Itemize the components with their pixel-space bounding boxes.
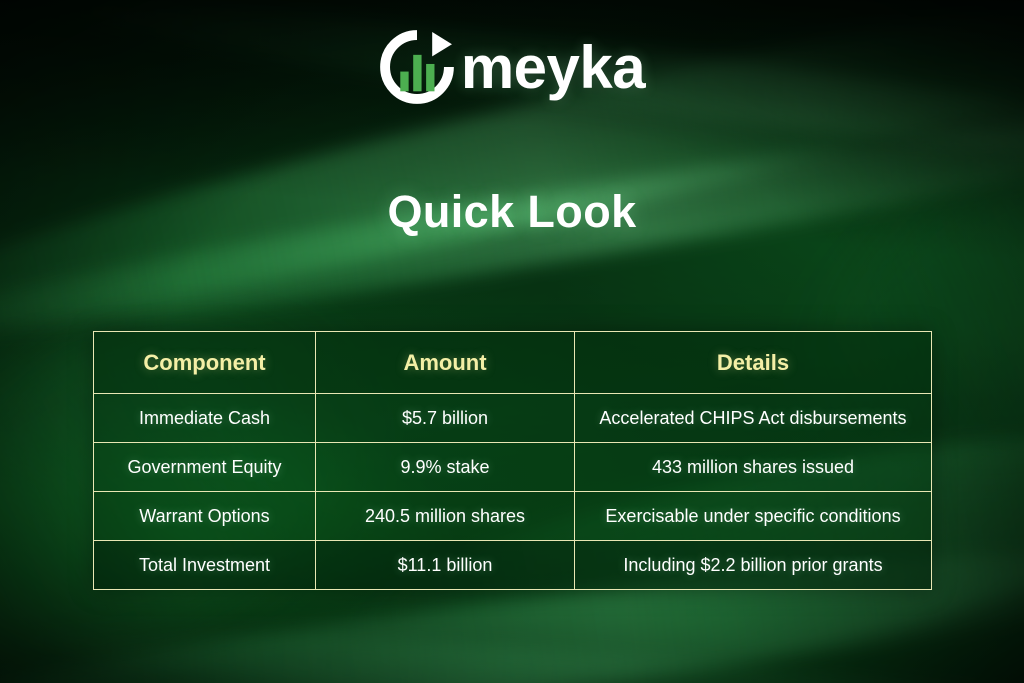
table-row: Immediate Cash $5.7 billion Accelerated …: [94, 394, 932, 443]
cell-amount: 9.9% stake: [316, 443, 575, 492]
table-row: Total Investment $11.1 billion Including…: [94, 541, 932, 590]
quick-look-table: Component Amount Details Immediate Cash …: [93, 331, 932, 590]
cell-details: Including $2.2 billion prior grants: [575, 541, 932, 590]
cell-amount: 240.5 million shares: [316, 492, 575, 541]
column-header-component: Component: [94, 332, 316, 394]
cell-amount: $11.1 billion: [316, 541, 575, 590]
quick-look-table-container: Component Amount Details Immediate Cash …: [93, 331, 931, 590]
cell-amount: $5.7 billion: [316, 394, 575, 443]
page-title: Quick Look: [0, 186, 1024, 238]
table-row: Warrant Options 240.5 million shares Exe…: [94, 492, 932, 541]
table-header: Component Amount Details: [94, 332, 932, 394]
brand-logo: meyka: [0, 26, 1024, 108]
column-header-amount: Amount: [316, 332, 575, 394]
cell-details: Accelerated CHIPS Act disbursements: [575, 394, 932, 443]
cell-details: 433 million shares issued: [575, 443, 932, 492]
table-header-row: Component Amount Details: [94, 332, 932, 394]
table-row: Government Equity 9.9% stake 433 million…: [94, 443, 932, 492]
table-body: Immediate Cash $5.7 billion Accelerated …: [94, 394, 932, 590]
cell-component: Government Equity: [94, 443, 316, 492]
slide-canvas: meyka Quick Look Component Amount Detail…: [0, 0, 1024, 683]
column-header-details: Details: [575, 332, 932, 394]
cell-component: Warrant Options: [94, 492, 316, 541]
cell-component: Total Investment: [94, 541, 316, 590]
circular-arrow-bar-chart-icon: [379, 29, 455, 105]
brand-wordmark: meyka: [461, 38, 645, 98]
cell-component: Immediate Cash: [94, 394, 316, 443]
cell-details: Exercisable under specific conditions: [575, 492, 932, 541]
